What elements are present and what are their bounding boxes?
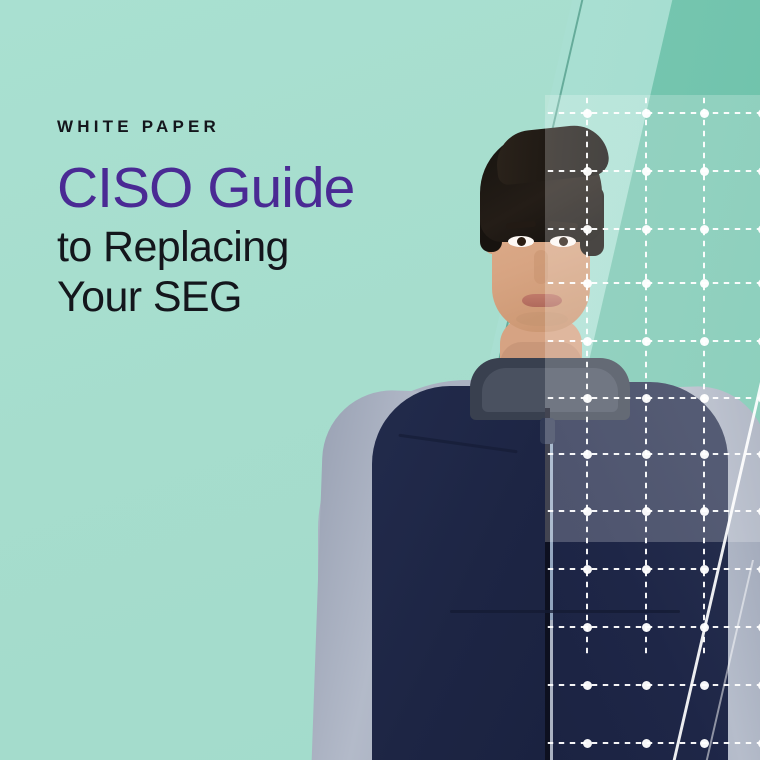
portrait-vest-zipper-pull bbox=[540, 418, 555, 444]
portrait-chin-shadow bbox=[516, 312, 568, 326]
portrait-lips bbox=[522, 294, 562, 307]
portrait-pupil-left bbox=[517, 237, 526, 246]
page-title: CISO Guide bbox=[57, 159, 477, 217]
portrait-pupil-right bbox=[559, 237, 568, 246]
portrait-vest-zipper bbox=[545, 408, 550, 760]
portrait-vest-collar-inner bbox=[482, 368, 618, 412]
portrait-vest-right bbox=[553, 382, 728, 760]
page-subtitle-line-2: Your SEG bbox=[57, 273, 477, 322]
eyebrow-label: WHITE PAPER bbox=[57, 118, 477, 135]
portrait-nose bbox=[534, 250, 548, 284]
cover-canvas: WHITE PAPER CISO Guide to Replacing Your… bbox=[0, 0, 760, 760]
page-subtitle-line-1: to Replacing bbox=[57, 223, 477, 272]
cover-text-block: WHITE PAPER CISO Guide to Replacing Your… bbox=[57, 118, 477, 322]
page-subtitle: to Replacing Your SEG bbox=[57, 223, 477, 322]
portrait-vest-pocket-seam bbox=[450, 610, 680, 613]
